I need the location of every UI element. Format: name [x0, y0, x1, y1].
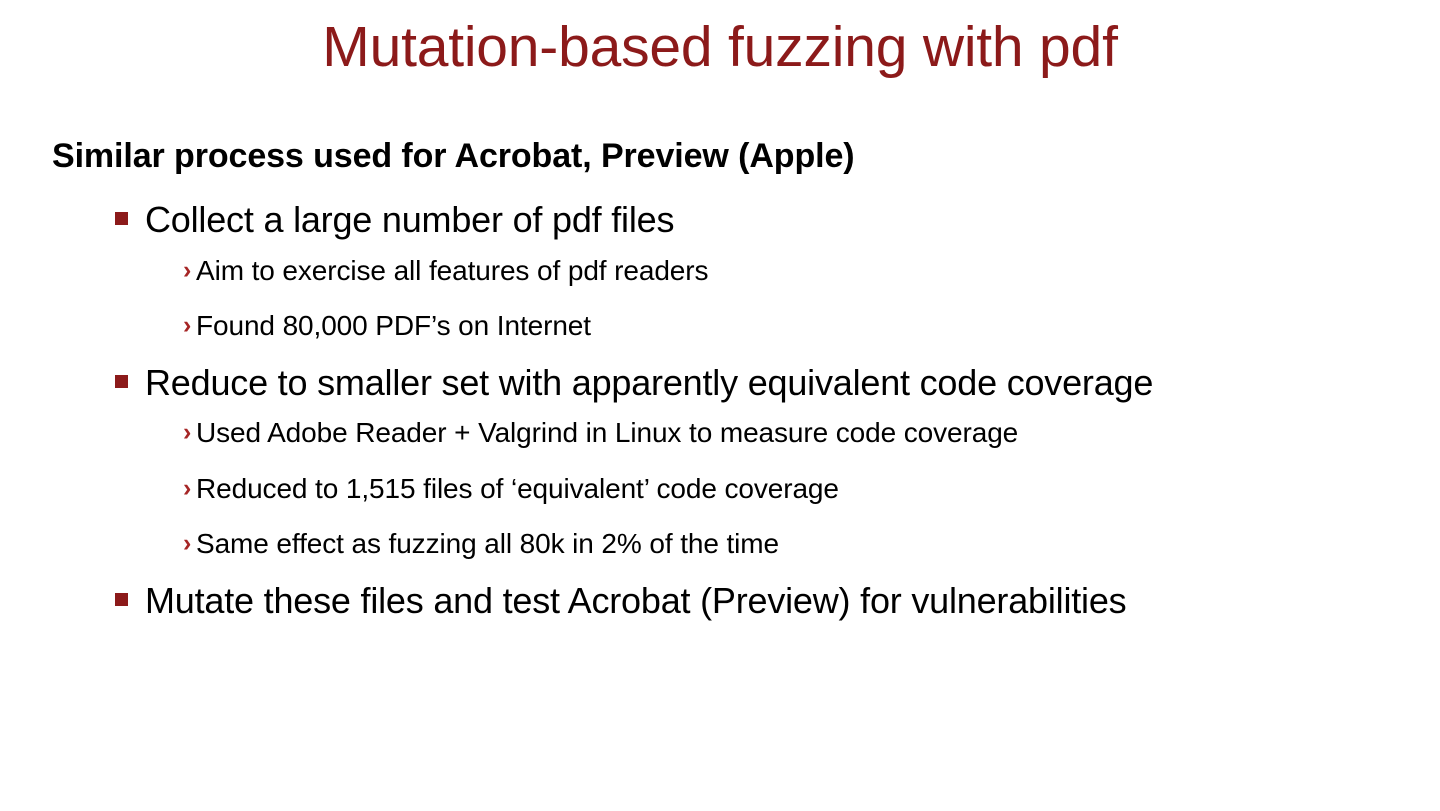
slide-body: Similar process used for Acrobat, Previe… — [0, 136, 1440, 634]
bullet-label: Same effect as fuzzing all 80k in 2% of … — [196, 527, 779, 561]
bullet-label: Reduce to smaller set with apparently eq… — [145, 361, 1153, 404]
bullet-level3: › Aim to exercise all features of pdf re… — [0, 254, 1440, 288]
page-title: Mutation-based fuzzing with pdf — [0, 14, 1440, 80]
square-bullet-icon — [115, 198, 145, 225]
chevron-right-bullet-icon: › — [183, 527, 196, 561]
bullet-label: Reduced to 1,515 files of ‘equivalent’ c… — [196, 472, 839, 506]
bullet-label: Similar process used for Acrobat, Previe… — [52, 136, 855, 177]
bullet-level2: Collect a large number of pdf files — [0, 198, 1440, 241]
bullet-level3: › Same effect as fuzzing all 80k in 2% o… — [0, 527, 1440, 561]
square-bullet-icon — [115, 361, 145, 388]
chevron-right-bullet-icon: › — [183, 416, 196, 450]
bullet-level3: › Found 80,000 PDF’s on Internet — [0, 309, 1440, 343]
bullet-label: Used Adobe Reader + Valgrind in Linux to… — [196, 416, 1018, 450]
chevron-right-bullet-icon: › — [183, 309, 196, 343]
bullet-level3: › Reduced to 1,515 files of ‘equivalent’… — [0, 472, 1440, 506]
bullet-level1: Similar process used for Acrobat, Previe… — [0, 136, 1440, 177]
bullet-label: Collect a large number of pdf files — [145, 198, 674, 241]
bullet-label: Found 80,000 PDF’s on Internet — [196, 309, 591, 343]
bullet-level3: › Used Adobe Reader + Valgrind in Linux … — [0, 416, 1440, 450]
bullet-label: Aim to exercise all features of pdf read… — [196, 254, 708, 288]
slide-canvas: Mutation-based fuzzing with pdf Similar … — [0, 0, 1440, 811]
bullet-level2: Reduce to smaller set with apparently eq… — [0, 361, 1440, 404]
square-bullet-icon — [115, 579, 145, 606]
chevron-right-bullet-icon: › — [183, 254, 196, 288]
bullet-label: Mutate these files and test Acrobat (Pre… — [145, 579, 1126, 622]
chevron-right-bullet-icon: › — [183, 472, 196, 506]
bullet-level2: Mutate these files and test Acrobat (Pre… — [0, 579, 1440, 622]
